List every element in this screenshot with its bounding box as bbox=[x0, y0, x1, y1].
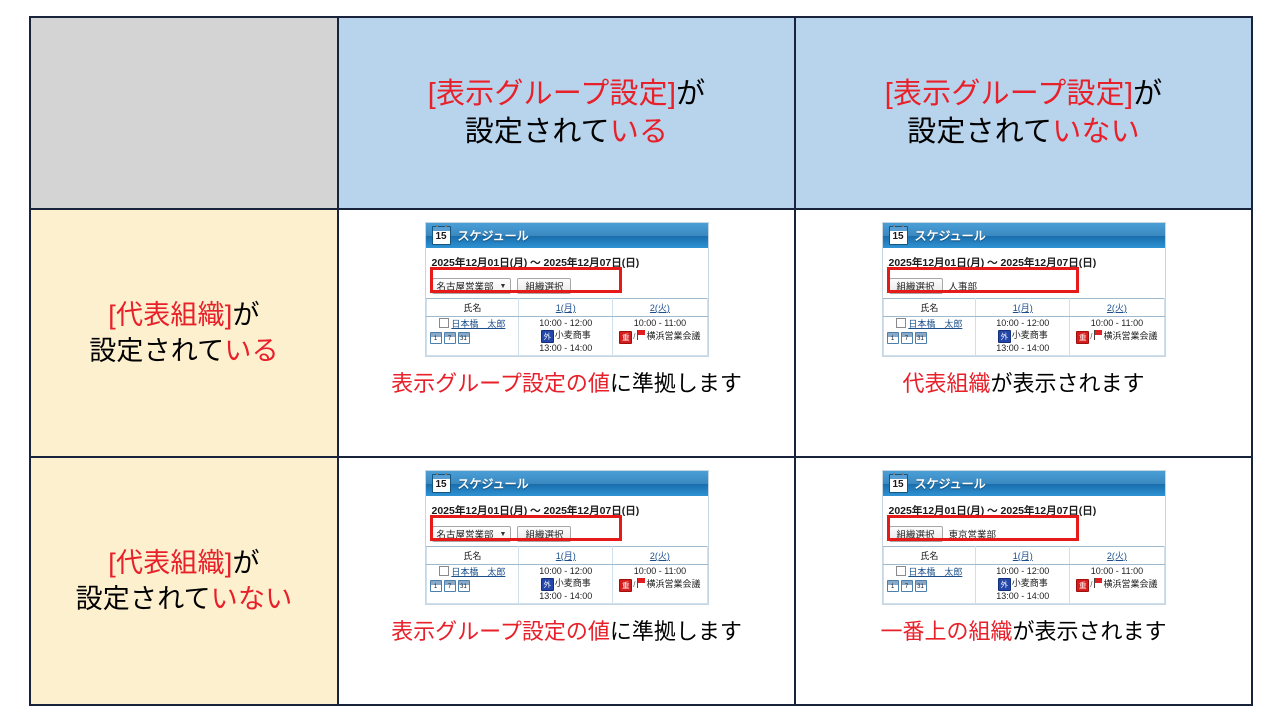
cell-r1-c0-inner: 15 スケジュール 2025年12月01日(月) ～ 2025年12月07日(日… bbox=[339, 458, 794, 704]
caption-r1-c1-black: が表示されます bbox=[1013, 619, 1167, 644]
external-badge-icon: 外 bbox=[541, 330, 554, 343]
event-title: 小麦商事 bbox=[555, 330, 591, 340]
schedule-col-day1-link: 1(月) bbox=[1013, 551, 1033, 561]
widget-org-toolbar: 組織選択 人事部 bbox=[883, 275, 1165, 298]
day2-cell: 10:00 - 11:00 重/横浜営業会議 bbox=[1070, 317, 1164, 356]
event-time: 10:00 - 11:00 bbox=[616, 566, 703, 578]
column-header-1-bracket: [表示グループ設定] bbox=[885, 78, 1133, 110]
cell-r1-c1-inner: 15 スケジュール 2025年12月01日(月) ～ 2025年12月07日(日… bbox=[796, 458, 1251, 704]
schedule-widget-r1c1: 15 スケジュール 2025年12月01日(月) ～ 2025年12月07日(日… bbox=[882, 470, 1166, 605]
schedule-grid: 氏名 1(月) 2(火) 日本橋 太郎 bbox=[426, 546, 708, 604]
event-entry[interactable]: 外小麦商事 bbox=[522, 330, 609, 343]
caption-r1-c1-red: 一番上の組織 bbox=[880, 619, 1012, 644]
schedule-row: 日本橋 太郎 1 7 31 10:0 bbox=[426, 317, 707, 356]
day1-cell: 10:00 - 12:00 外小麦商事 13:00 - 14:00 bbox=[976, 317, 1070, 356]
column-header-0-line2-black: 設定されて bbox=[465, 116, 610, 148]
event-entry[interactable]: 重/横浜営業会議 bbox=[616, 330, 703, 344]
caption-r1-c0: 表示グループ設定の値に準拠します bbox=[391, 619, 742, 645]
row-header-1-line2-red: いない bbox=[211, 584, 293, 614]
calendar-icon: 15 bbox=[889, 474, 908, 493]
person-checkbox[interactable] bbox=[439, 318, 449, 328]
event-time: 10:00 - 11:00 bbox=[616, 318, 703, 330]
row-header-0-line2-black: 設定されて bbox=[89, 336, 224, 366]
column-header-group-unset-text: [表示グループ設定]が 設定されていない bbox=[796, 75, 1251, 152]
calendar-icon: 15 bbox=[432, 226, 451, 245]
event-title: 小麦商事 bbox=[1012, 330, 1048, 340]
caption-r1-c0-black: に準拠します bbox=[610, 619, 742, 644]
person-name[interactable]: 日本橋 太郎 bbox=[908, 567, 962, 577]
flag-icon bbox=[636, 578, 646, 588]
day2-cell: 10:00 - 11:00 重/横浜営業会議 bbox=[613, 565, 707, 604]
flag-icon bbox=[636, 330, 646, 340]
caption-r0-c1-red: 代表組織 bbox=[902, 371, 990, 396]
schedule-col-name: 氏名 bbox=[883, 547, 976, 565]
schedule-col-day1-link: 1(月) bbox=[1013, 303, 1033, 313]
calendar-month-icon[interactable]: 31 bbox=[915, 332, 927, 344]
event-time: 10:00 - 12:00 bbox=[979, 566, 1066, 578]
chevron-down-icon: ▼ bbox=[500, 531, 507, 538]
row-header-0-mid: が bbox=[233, 300, 260, 330]
event-title: 小麦商事 bbox=[1012, 578, 1048, 588]
person-cell: 日本橋 太郎 1 7 31 bbox=[426, 565, 519, 604]
event-time: 10:00 - 12:00 bbox=[522, 318, 609, 330]
calendar-week-icon[interactable]: 7 bbox=[444, 580, 456, 592]
schedule-col-day2[interactable]: 2(火) bbox=[613, 299, 707, 317]
column-header-group-set-text: [表示グループ設定]が 設定されている bbox=[339, 75, 794, 152]
schedule-col-day2[interactable]: 2(火) bbox=[1070, 547, 1164, 565]
schedule-grid: 氏名 1(月) 2(火) 日本橋 太郎 bbox=[883, 298, 1165, 356]
person-name[interactable]: 日本橋 太郎 bbox=[451, 319, 505, 329]
schedule-widget-r0c1: 15 スケジュール 2025年12月01日(月) ～ 2025年12月07日(日… bbox=[882, 222, 1166, 357]
important-badge-icon: 重 bbox=[619, 579, 632, 592]
column-header-0-bracket: [表示グループ設定] bbox=[428, 78, 676, 110]
org-current-label: 人事部 bbox=[949, 279, 978, 293]
schedule-col-day1-link: 1(月) bbox=[556, 303, 576, 313]
external-badge-icon: 外 bbox=[998, 330, 1011, 343]
widget-titlebar: 15 スケジュール bbox=[426, 223, 708, 248]
org-dropdown-value: 名古屋営業部 bbox=[437, 527, 494, 541]
event-entry[interactable]: 重/横浜営業会議 bbox=[1073, 330, 1160, 344]
chevron-down-icon: ▼ bbox=[500, 283, 507, 290]
widget-date-range: 2025年12月01日(月) ～ 2025年12月07日(日) bbox=[883, 248, 1165, 275]
org-select-button[interactable]: 組織選択 bbox=[889, 278, 943, 294]
org-dropdown[interactable]: 名古屋営業部 ▼ bbox=[432, 278, 512, 294]
calendar-icon-day: 15 bbox=[892, 232, 903, 244]
calendar-icon-day: 15 bbox=[435, 480, 446, 492]
column-header-1-line2-red: いない bbox=[1052, 116, 1140, 148]
schedule-col-day1-link: 1(月) bbox=[556, 551, 576, 561]
important-badge-icon: 重 bbox=[1076, 331, 1089, 344]
widget-org-toolbar: 名古屋営業部 ▼ 組織選択 bbox=[426, 523, 708, 546]
day2-cell: 10:00 - 11:00 重/横浜営業会議 bbox=[1070, 565, 1164, 604]
column-header-1-mid: が bbox=[1133, 78, 1162, 110]
schedule-row: 日本橋 太郎 1 7 31 10:0 bbox=[883, 317, 1164, 356]
schedule-header-row: 氏名 1(月) 2(火) bbox=[426, 299, 707, 317]
column-header-group-unset: [表示グループ設定]が 設定されていない bbox=[795, 17, 1252, 209]
event-time: 10:00 - 12:00 bbox=[979, 318, 1066, 330]
schedule-col-day2-link: 2(火) bbox=[1107, 303, 1127, 313]
external-badge-icon: 外 bbox=[541, 578, 554, 591]
cell-r0-c0: 15 スケジュール 2025年12月01日(月) ～ 2025年12月07日(日… bbox=[338, 209, 795, 457]
person-cell: 日本橋 太郎 1 7 31 bbox=[883, 565, 976, 604]
important-badge-icon: 重 bbox=[619, 331, 632, 344]
widget-titlebar: 15 スケジュール bbox=[426, 471, 708, 496]
event-title: 横浜営業会議 bbox=[1104, 331, 1158, 341]
calendar-month-icon[interactable]: 31 bbox=[915, 580, 927, 592]
calendar-icon-day: 15 bbox=[435, 232, 446, 244]
schedule-col-name: 氏名 bbox=[426, 299, 519, 317]
comparison-matrix: [表示グループ設定]が 設定されている [表示グループ設定]が 設定されていない… bbox=[29, 16, 1253, 706]
column-header-1-line2-black: 設定されて bbox=[907, 116, 1052, 148]
external-badge-icon: 外 bbox=[998, 578, 1011, 591]
schedule-col-day2-link: 2(火) bbox=[650, 303, 670, 313]
schedule-header-row: 氏名 1(月) 2(火) bbox=[883, 299, 1164, 317]
event-time: 10:00 - 11:00 bbox=[1073, 566, 1160, 578]
widget-org-toolbar: 名古屋営業部 ▼ 組織選択 bbox=[426, 275, 708, 298]
calendar-month-icon[interactable]: 31 bbox=[458, 580, 470, 592]
row-header-1-mid: が bbox=[233, 548, 260, 578]
calendar-day-icon[interactable]: 1 bbox=[887, 332, 899, 344]
calendar-week-icon[interactable]: 7 bbox=[444, 332, 456, 344]
caption-r1-c1: 一番上の組織が表示されます bbox=[880, 619, 1166, 645]
event-title: 小麦商事 bbox=[555, 578, 591, 588]
event-entry[interactable]: 外小麦商事 bbox=[979, 330, 1066, 343]
schedule-col-day2[interactable]: 2(火) bbox=[1070, 299, 1164, 317]
person-view-icons: 1 7 31 bbox=[430, 332, 516, 344]
column-header-0-mid: が bbox=[676, 78, 705, 110]
row-header-0-line2-red: いる bbox=[224, 336, 278, 366]
org-dropdown-value: 名古屋営業部 bbox=[437, 279, 494, 293]
calendar-week-icon[interactable]: 7 bbox=[901, 332, 913, 344]
matrix-header-row: [表示グループ設定]が 設定されている [表示グループ設定]が 設定されていない bbox=[30, 17, 1252, 209]
row-header-1-bracket: [代表組織] bbox=[108, 548, 232, 578]
caption-r0-c1: 代表組織が表示されます bbox=[902, 371, 1144, 397]
calendar-icon: 15 bbox=[889, 226, 908, 245]
person-checkbox[interactable] bbox=[896, 566, 906, 576]
calendar-day-icon[interactable]: 1 bbox=[430, 580, 442, 592]
caption-r0-c1-black: が表示されます bbox=[991, 371, 1145, 396]
row-header-1-line2-black: 設定されて bbox=[76, 584, 211, 614]
org-select-button[interactable]: 組織選択 bbox=[889, 526, 943, 542]
person-checkbox[interactable] bbox=[439, 566, 449, 576]
matrix-row-rep-org-set: [代表組織]が 設定されている 1 bbox=[30, 209, 1252, 457]
important-badge-icon: 重 bbox=[1076, 579, 1089, 592]
matrix-row-rep-org-unset: [代表組織]が 設定されていない bbox=[30, 457, 1252, 705]
schedule-grid: 氏名 1(月) 2(火) 日本橋 太郎 bbox=[883, 546, 1165, 604]
calendar-month-icon[interactable]: 31 bbox=[458, 332, 470, 344]
page-root: [表示グループ設定]が 設定されている [表示グループ設定]が 設定されていない… bbox=[0, 0, 1280, 720]
person-cell: 日本橋 太郎 1 7 31 bbox=[426, 317, 519, 356]
day1-cell: 10:00 - 12:00 外小麦商事 13:00 - 14:00 bbox=[976, 565, 1070, 604]
event-time: 13:00 - 14:00 bbox=[522, 343, 609, 355]
person-name[interactable]: 日本橋 太郎 bbox=[451, 567, 505, 577]
person-checkbox[interactable] bbox=[896, 318, 906, 328]
event-entry[interactable]: 重/横浜営業会議 bbox=[616, 578, 703, 592]
column-header-0-line2-red: いる bbox=[610, 116, 668, 148]
widget-titlebar: 15 スケジュール bbox=[883, 223, 1165, 248]
row-header-rep-org-set: [代表組織]が 設定されている bbox=[30, 209, 338, 457]
person-view-icons: 1 7 31 bbox=[887, 580, 973, 592]
cell-r1-c1: 15 スケジュール 2025年12月01日(月) ～ 2025年12月07日(日… bbox=[795, 457, 1252, 705]
event-title: 横浜営業会議 bbox=[647, 579, 701, 589]
person-view-icons: 1 7 31 bbox=[430, 580, 516, 592]
schedule-widget-r1c0: 15 スケジュール 2025年12月01日(月) ～ 2025年12月07日(日… bbox=[425, 470, 709, 605]
org-select-button[interactable]: 組織選択 bbox=[517, 526, 571, 542]
calendar-icon: 15 bbox=[432, 474, 451, 493]
event-entry[interactable]: 外小麦商事 bbox=[522, 578, 609, 591]
event-entry[interactable]: 外小麦商事 bbox=[979, 578, 1066, 591]
event-title: 横浜営業会議 bbox=[1104, 579, 1158, 589]
cell-r1-c0: 15 スケジュール 2025年12月01日(月) ～ 2025年12月07日(日… bbox=[338, 457, 795, 705]
event-entry[interactable]: 重/横浜営業会議 bbox=[1073, 578, 1160, 592]
row-header-rep-org-unset-text: [代表組織]が 設定されていない bbox=[31, 545, 337, 617]
cell-r0-c0-inner: 15 スケジュール 2025年12月01日(月) ～ 2025年12月07日(日… bbox=[339, 210, 794, 456]
schedule-col-day1[interactable]: 1(月) bbox=[976, 547, 1070, 565]
widget-date-range: 2025年12月01日(月) ～ 2025年12月07日(日) bbox=[883, 496, 1165, 523]
widget-date-range: 2025年12月01日(月) ～ 2025年12月07日(日) bbox=[426, 496, 708, 523]
row-header-rep-org-set-text: [代表組織]が 設定されている bbox=[31, 297, 337, 369]
caption-r1-c0-red: 表示グループ設定の値 bbox=[391, 619, 610, 644]
day1-cell: 10:00 - 12:00 外小麦商事 13:00 - 14:00 bbox=[519, 317, 613, 356]
caption-r0-c0-red: 表示グループ設定の値 bbox=[391, 371, 610, 396]
event-time: 13:00 - 14:00 bbox=[522, 591, 609, 603]
person-name[interactable]: 日本橋 太郎 bbox=[908, 319, 962, 329]
widget-title: スケジュール bbox=[915, 227, 986, 244]
org-current-label: 東京営業部 bbox=[949, 527, 997, 541]
schedule-grid: 氏名 1(月) 2(火) 日本橋 太郎 bbox=[426, 298, 708, 356]
schedule-col-name: 氏名 bbox=[426, 547, 519, 565]
widget-titlebar: 15 スケジュール bbox=[883, 471, 1165, 496]
schedule-header-row: 氏名 1(月) 2(火) bbox=[883, 547, 1164, 565]
calendar-week-icon[interactable]: 7 bbox=[901, 580, 913, 592]
org-select-button[interactable]: 組織選択 bbox=[517, 278, 571, 294]
caption-r0-c0-black: に準拠します bbox=[610, 371, 742, 396]
org-dropdown[interactable]: 名古屋営業部 ▼ bbox=[432, 526, 512, 542]
day1-cell: 10:00 - 12:00 外小麦商事 13:00 - 14:00 bbox=[519, 565, 613, 604]
flag-icon bbox=[1093, 330, 1103, 340]
schedule-row: 日本橋 太郎 1 7 31 10:0 bbox=[426, 565, 707, 604]
widget-date-range: 2025年12月01日(月) ～ 2025年12月07日(日) bbox=[426, 248, 708, 275]
schedule-header-row: 氏名 1(月) 2(火) bbox=[426, 547, 707, 565]
schedule-row: 日本橋 太郎 1 7 31 10:0 bbox=[883, 565, 1164, 604]
calendar-day-icon[interactable]: 1 bbox=[430, 332, 442, 344]
schedule-widget-r0c0: 15 スケジュール 2025年12月01日(月) ～ 2025年12月07日(日… bbox=[425, 222, 709, 357]
widget-title: スケジュール bbox=[915, 475, 986, 492]
event-time: 13:00 - 14:00 bbox=[979, 591, 1066, 603]
widget-title: スケジュール bbox=[458, 475, 529, 492]
flag-icon bbox=[1093, 578, 1103, 588]
day2-cell: 10:00 - 11:00 重/横浜営業会議 bbox=[613, 317, 707, 356]
schedule-col-day1[interactable]: 1(月) bbox=[519, 547, 613, 565]
row-header-rep-org-unset: [代表組織]が 設定されていない bbox=[30, 457, 338, 705]
event-title: 横浜営業会議 bbox=[647, 331, 701, 341]
schedule-col-day2[interactable]: 2(火) bbox=[613, 547, 707, 565]
widget-org-toolbar: 組織選択 東京営業部 bbox=[883, 523, 1165, 546]
schedule-col-day1[interactable]: 1(月) bbox=[519, 299, 613, 317]
event-time: 10:00 - 12:00 bbox=[522, 566, 609, 578]
schedule-col-day2-link: 2(火) bbox=[650, 551, 670, 561]
row-header-0-bracket: [代表組織] bbox=[108, 300, 232, 330]
calendar-day-icon[interactable]: 1 bbox=[887, 580, 899, 592]
column-header-group-set: [表示グループ設定]が 設定されている bbox=[338, 17, 795, 209]
schedule-col-name: 氏名 bbox=[883, 299, 976, 317]
person-view-icons: 1 7 31 bbox=[887, 332, 973, 344]
schedule-col-day1[interactable]: 1(月) bbox=[976, 299, 1070, 317]
matrix-corner-cell bbox=[30, 17, 338, 209]
person-cell: 日本橋 太郎 1 7 31 bbox=[883, 317, 976, 356]
schedule-col-day2-link: 2(火) bbox=[1107, 551, 1127, 561]
caption-r0-c0: 表示グループ設定の値に準拠します bbox=[391, 371, 742, 397]
cell-r0-c1-inner: 15 スケジュール 2025年12月01日(月) ～ 2025年12月07日(日… bbox=[796, 210, 1251, 456]
calendar-icon-day: 15 bbox=[892, 480, 903, 492]
event-time: 13:00 - 14:00 bbox=[979, 343, 1066, 355]
cell-r0-c1: 15 スケジュール 2025年12月01日(月) ～ 2025年12月07日(日… bbox=[795, 209, 1252, 457]
widget-title: スケジュール bbox=[458, 227, 529, 244]
event-time: 10:00 - 11:00 bbox=[1073, 318, 1160, 330]
